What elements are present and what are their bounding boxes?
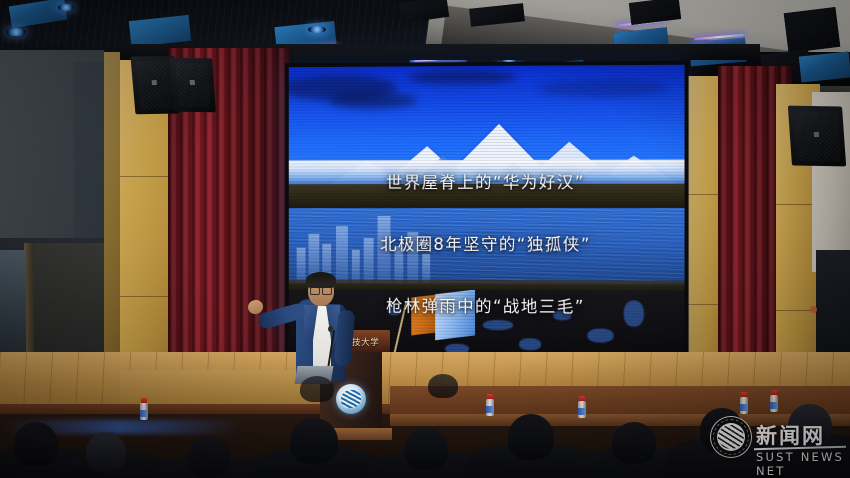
audience-member: [14, 422, 58, 466]
hanging-loudspeaker-left-b: [170, 58, 216, 113]
audience-member: [404, 428, 448, 470]
water-bottle: [740, 392, 748, 414]
watermark: 新闻网 SUST NEWS NET: [706, 414, 846, 470]
watermark-english-text: SUST NEWS NET: [756, 450, 846, 478]
ceiling-light-fixture: [799, 51, 850, 82]
water-bottle: [770, 390, 778, 412]
audience-member: [300, 376, 334, 402]
audience-member: [508, 414, 554, 460]
audience-member: [188, 436, 230, 478]
water-bottle: [578, 396, 586, 418]
slide-line-2: 北极圈8年坚守的“独孤侠”: [289, 231, 685, 256]
ceiling-panel: [784, 7, 840, 53]
glasses-icon: [310, 286, 332, 292]
ceiling-spot-light: [58, 4, 74, 11]
door-knob: [810, 306, 817, 313]
hanging-loudspeaker-right: [788, 106, 846, 167]
sust-news-logo-icon: [710, 416, 752, 458]
audience-member: [428, 374, 458, 398]
person-arm-right: [334, 309, 356, 366]
microphone-icon: [328, 326, 333, 332]
slide-line-1: 世界屋脊上的“华为好汉”: [289, 169, 685, 194]
water-bottle: [140, 398, 148, 420]
speaker-person: [256, 272, 376, 384]
audience-member: [612, 422, 656, 464]
audience-member: [290, 418, 338, 464]
ceiling-spot-light: [308, 26, 326, 33]
lecture-hall-photo: 世界屋脊上的“华为好汉” 北极圈8年坚守的“独孤侠” 枪林弹雨中的“战地三毛” …: [0, 0, 850, 478]
water-bottle: [486, 394, 494, 416]
watermark-chinese-text: 新闻网: [756, 420, 825, 450]
ceiling-spot-light: [6, 28, 26, 36]
university-emblem-icon: [336, 384, 366, 414]
audience-member: [86, 432, 126, 472]
